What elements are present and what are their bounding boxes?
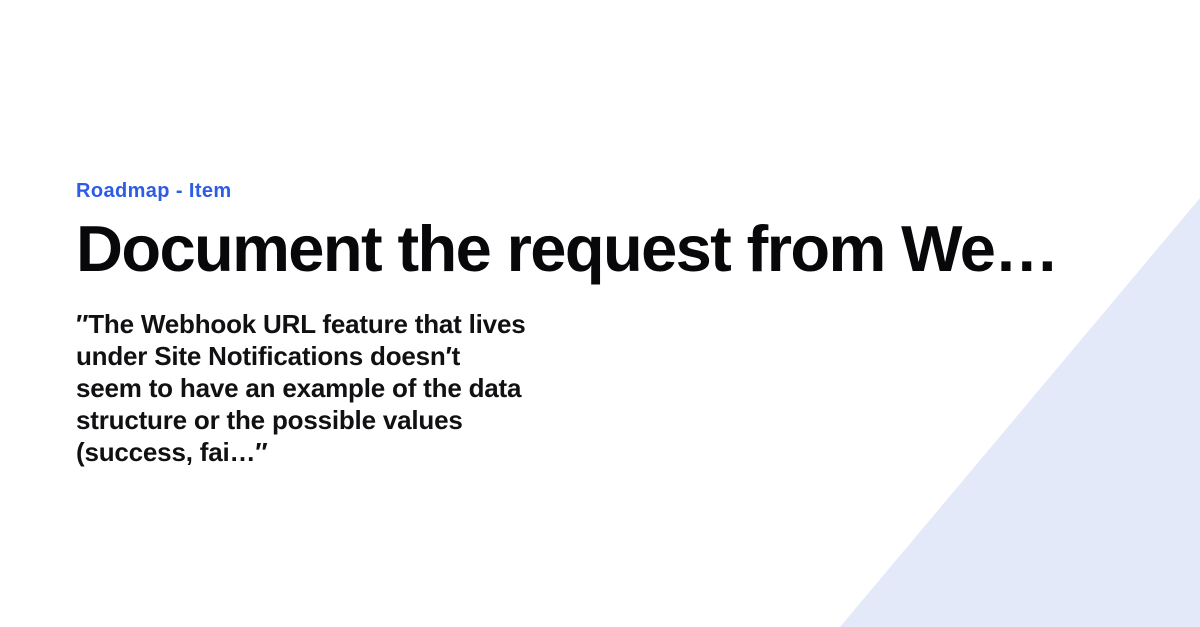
page-title: Document the request from We…: [76, 212, 1096, 286]
social-share-card: Roadmap - Item Document the request from…: [0, 0, 1200, 627]
excerpt-text: ″The Webhook URL feature that lives unde…: [76, 308, 676, 468]
excerpt-line: (success, fai…″: [76, 436, 676, 468]
excerpt-line: structure or the possible values: [76, 404, 676, 436]
excerpt-line: under Site Notifications doesn′t: [76, 340, 676, 372]
excerpt-line: ″The Webhook URL feature that lives: [76, 308, 676, 340]
breadcrumb-eyebrow: Roadmap - Item: [76, 178, 1096, 204]
excerpt-line: seem to have an example of the data: [76, 372, 676, 404]
card-content: Roadmap - Item Document the request from…: [76, 178, 1096, 468]
